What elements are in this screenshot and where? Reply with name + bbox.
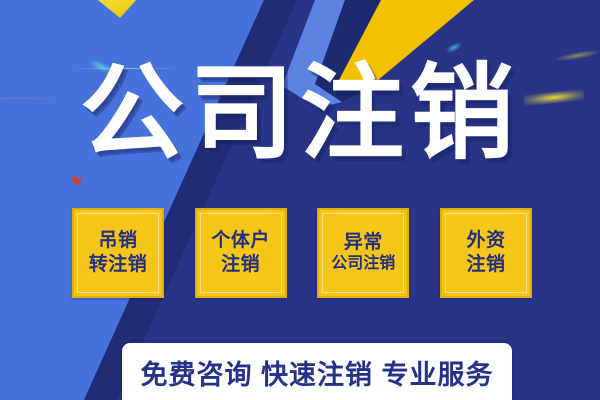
badge-inner-frame: 异常 公司注销: [322, 213, 404, 293]
service-badge-row: 吊销 转注销 个体户 注销 异常 公司注销 外资 注销: [72, 208, 532, 298]
footer-slogan-text: 免费咨询 快速注销 专业服务: [140, 353, 493, 392]
badge-label-line1: 个体户: [211, 230, 270, 252]
badge-label-line2: 注销: [466, 254, 505, 276]
promo-poster: 公司注销 吊销 转注销 个体户 注销 异常 公司注销 外资 注销: [0, 0, 600, 400]
footer-slogan-bar: 免费咨询 快速注销 专业服务: [122, 343, 512, 400]
badge-label-line2: 转注销: [89, 254, 148, 276]
badge-label-line2: 注销: [221, 254, 260, 276]
badge-label-line1: 吊销: [98, 230, 137, 252]
badge-inner-frame: 吊销 转注销: [77, 213, 159, 293]
service-badge-waizi-zhuxiao[interactable]: 外资 注销: [440, 208, 532, 298]
badge-label-line1: 异常: [344, 232, 383, 254]
badge-inner-frame: 外资 注销: [445, 213, 527, 293]
badge-label-line1: 外资: [466, 230, 505, 252]
badge-inner-frame: 个体户 注销: [200, 213, 282, 293]
service-badge-yichang-gongsi-zhuxiao[interactable]: 异常 公司注销: [317, 208, 409, 298]
page-title: 公司注销: [0, 62, 600, 166]
badge-label-line2: 公司注销: [331, 255, 395, 274]
service-badge-diaoxiao-zhuanzhuxiao[interactable]: 吊销 转注销: [72, 208, 164, 298]
service-badge-getihu-zhuxiao[interactable]: 个体户 注销: [195, 208, 287, 298]
